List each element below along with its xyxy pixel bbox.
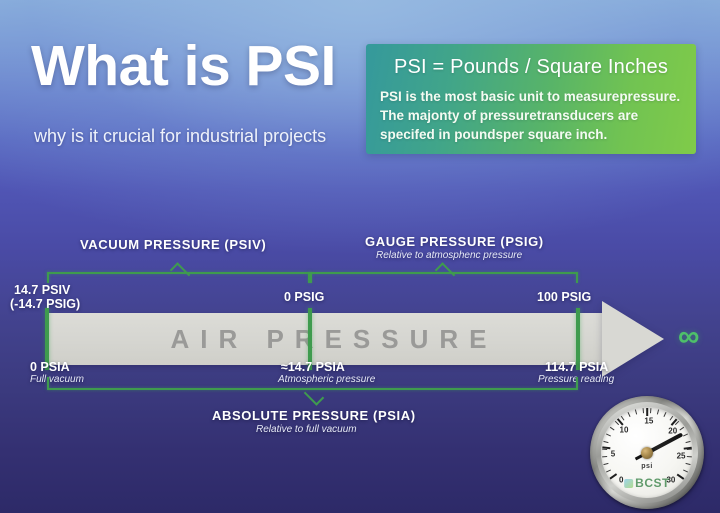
page-title: What is PSI	[31, 38, 336, 95]
bracket-stub-right	[576, 272, 578, 283]
bracket-notch	[435, 262, 456, 283]
brand-logo-text: BCST	[635, 476, 670, 490]
arrow-head-icon	[602, 301, 664, 377]
definition-card: PSI = Pounds / Square Inches PSI is the …	[366, 44, 696, 154]
gauge-scale-number: 10	[620, 425, 629, 434]
gauge-pressure-label: GAUGE PRESSURE (PSIG)	[365, 234, 544, 249]
bracket-notch	[169, 262, 190, 283]
definition-body-line-3: specifed in poundsper square inch.	[380, 125, 696, 144]
brand-logo: BCST	[624, 476, 670, 490]
definition-body-line-1: PSI is the most basic unit to measurepre…	[380, 87, 696, 106]
gauge-scale-number: 0	[619, 475, 623, 484]
gauge-scale-number: 15	[644, 416, 653, 425]
gauge-pressure-bracket	[310, 272, 578, 286]
absolute-pressure-label: ABSOLUTE PRESSURE (PSIA)	[212, 408, 416, 423]
infinity-icon: ∞	[678, 322, 699, 352]
gauge-scale-number: 25	[677, 452, 686, 461]
gauge-pressure-sublabel: Relative to atmosphenc pressure	[376, 250, 522, 261]
definition-body: PSI is the most basic unit to measurepre…	[380, 87, 696, 144]
infographic-canvas: What is PSI why is it crucial for indust…	[0, 0, 720, 513]
air-pressure-bar: AIR PRESSURE	[47, 313, 662, 365]
bracket-stub-left	[47, 272, 49, 283]
bottom-tick-middle-sublabel: Atmospheric pressure	[278, 374, 375, 385]
absolute-pressure-bracket	[47, 388, 578, 402]
gauge-scale-number: 20	[668, 426, 677, 435]
bracket-stub-left	[310, 272, 312, 283]
bottom-tick-left-value: 0 PSIA	[30, 360, 70, 374]
absolute-pressure-sublabel: Relative to full vacuum	[256, 424, 357, 435]
bracket-stub-left	[47, 377, 49, 388]
air-pressure-bar-label: AIR PRESSURE	[47, 313, 610, 365]
gauge-scale-number: 5	[611, 450, 615, 459]
vacuum-pressure-label: VACUUM PRESSURE (PSIV)	[80, 237, 266, 252]
definition-body-line-2: The majonty of pressuretransducers are	[380, 106, 696, 125]
gauge-hub	[641, 447, 653, 459]
bracket-stub-right	[576, 377, 578, 388]
brand-logo-mark	[624, 479, 633, 488]
gauge-unit-label: psi	[641, 463, 653, 470]
bottom-tick-middle-value: ≈14.7 PSIA	[281, 360, 345, 374]
pressure-gauge-image: 0 5 10 15 20 25 30 psi BCST	[588, 392, 710, 513]
gauge-dial: 0 5 10 15 20 25 30 psi BCST	[601, 407, 693, 498]
page-subtitle: why is it crucial for industrial project…	[34, 126, 326, 147]
tick-value-right-psig: 100 PSIG	[537, 290, 591, 304]
bottom-tick-left-sublabel: Full vacuum	[30, 374, 84, 385]
bottom-tick-right-value: 114.7 PSIA	[545, 360, 608, 374]
tick-value-middle-psig: 0 PSIG	[284, 290, 324, 304]
vacuum-pressure-bracket	[47, 272, 310, 286]
tick-value-left-psiv: 14.7 PSIV	[14, 283, 70, 297]
definition-heading: PSI = Pounds / Square Inches	[366, 44, 696, 79]
